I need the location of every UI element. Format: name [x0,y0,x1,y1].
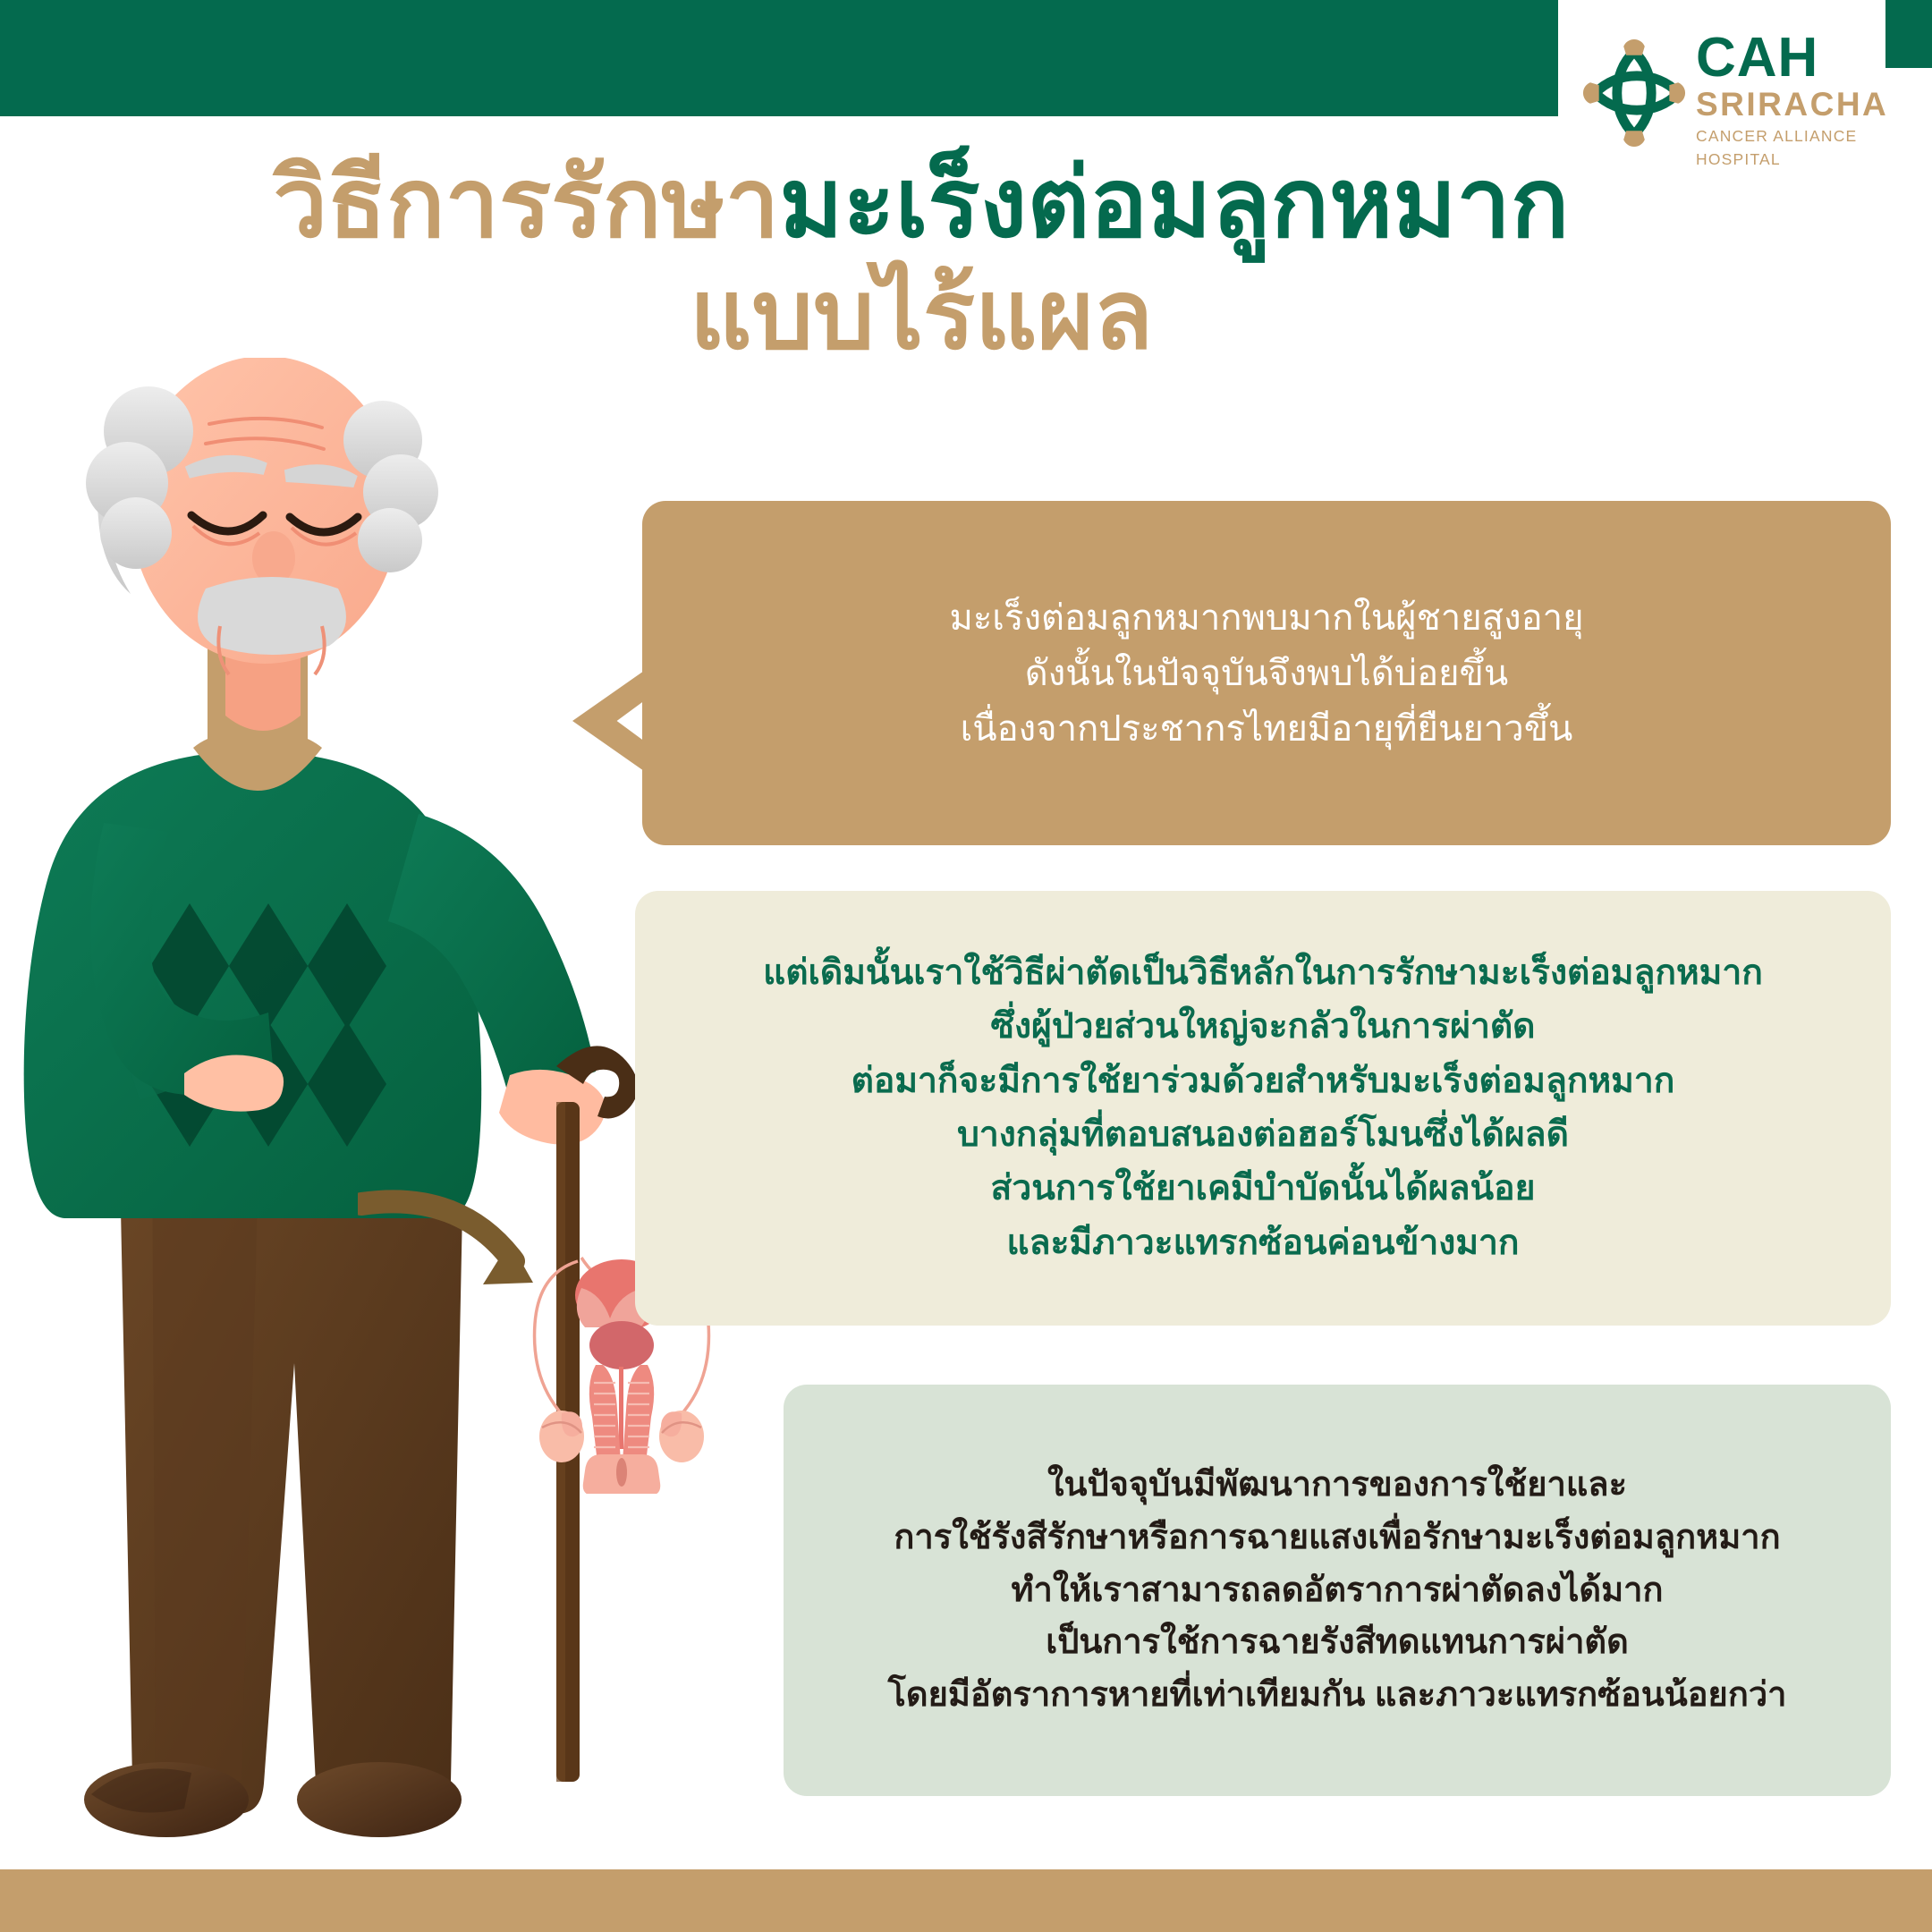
info-line: เนื่องจากประชากรไทยมีอายุที่ยืนยาวขึ้น [642,701,1891,757]
info-line: แต่เดิมนั้นเราใช้วิธีผ่าตัดเป็นวิธีหลักใ… [635,946,1891,1000]
info-line: เป็นการใช้การฉายรังสีทดแทนการผ่าตัด [784,1616,1891,1669]
info-line: การใช้รังสีรักษาหรือการฉายแสงเพื่อรักษาม… [784,1512,1891,1564]
info-line: ดังนั้นในปัจจุบันจึงพบได้บ่อยขึ้น [642,646,1891,701]
info-card-modern-text: ในปัจจุบันมีพัฒนาการของการใช้ยาและ การใช… [784,1459,1891,1722]
info-line: โดยมีอัตราการหายที่เท่าเทียมกัน และภาวะแ… [784,1669,1891,1722]
title-part-method: วิธีการรักษา [274,148,780,257]
brand-name: CAH [1696,32,1893,85]
info-card-intro: มะเร็งต่อมลูกหมากพบมากในผู้ชายสูงอายุ ดั… [642,501,1891,845]
footer-bar [0,1869,1932,1932]
info-card-intro-text: มะเร็งต่อมลูกหมากพบมากในผู้ชายสูงอายุ ดั… [642,590,1891,757]
brand-wordmark: CAH SRIRACHA CANCER ALLIANCE HOSPITAL [1696,32,1893,171]
info-line: ต่อมาก็จะมีการใช้ยาร่วมด้วยสำหรับมะเร็งต… [635,1055,1891,1108]
info-line: ทำให้เราสามารถลดอัตราการผ่าตัดลงได้มาก [784,1564,1891,1617]
info-line: ซึ่งผู้ป่วยส่วนใหญ่จะกลัวในการผ่าตัด [635,1000,1891,1054]
info-line: และมีภาวะแทรกซ้อนค่อนข้างมาก [635,1216,1891,1270]
info-line: บางกลุ่มที่ตอบสนองต่อฮอร์โมนซึ่งได้ผลดี [635,1108,1891,1162]
info-line: ในปัจจุบันมีพัฒนาการของการใช้ยาและ [784,1459,1891,1512]
brand-location: SRIRACHA [1696,87,1893,123]
title-part-disease: มะเร็งต่อมลูกหมาก [779,148,1569,257]
info-card-traditional: แต่เดิมนั้นเราใช้วิธีผ่าตัดเป็นวิธีหลักใ… [635,891,1891,1326]
brand-descriptor-2: HOSPITAL [1696,149,1893,171]
header-bar [0,0,1558,116]
info-line: ส่วนการใช้ยาเคมีบำบัดนั้นได้ผลน้อย [635,1162,1891,1216]
page-title: วิธีการรักษามะเร็งต่อมลูกหมาก แบบไร้แผล [134,152,1708,369]
info-line: มะเร็งต่อมลูกหมากพบมากในผู้ชายสูงอายุ [642,590,1891,646]
info-card-modern: ในปัจจุบันมีพัฒนาการของการใช้ยาและ การใช… [784,1385,1891,1796]
brand-descriptor-1: CANCER ALLIANCE [1696,126,1893,148]
infographic-canvas: CAH SRIRACHA CANCER ALLIANCE HOSPITAL วิ… [0,0,1932,1932]
brand-logo: CAH SRIRACHA CANCER ALLIANCE HOSPITAL [1581,32,1894,157]
info-card-traditional-text: แต่เดิมนั้นเราใช้วิธีผ่าตัดเป็นวิธีหลักใ… [635,946,1891,1271]
ribbon-cross-logo-icon [1581,38,1687,148]
title-subline: แบบไร้แผล [134,262,1708,369]
